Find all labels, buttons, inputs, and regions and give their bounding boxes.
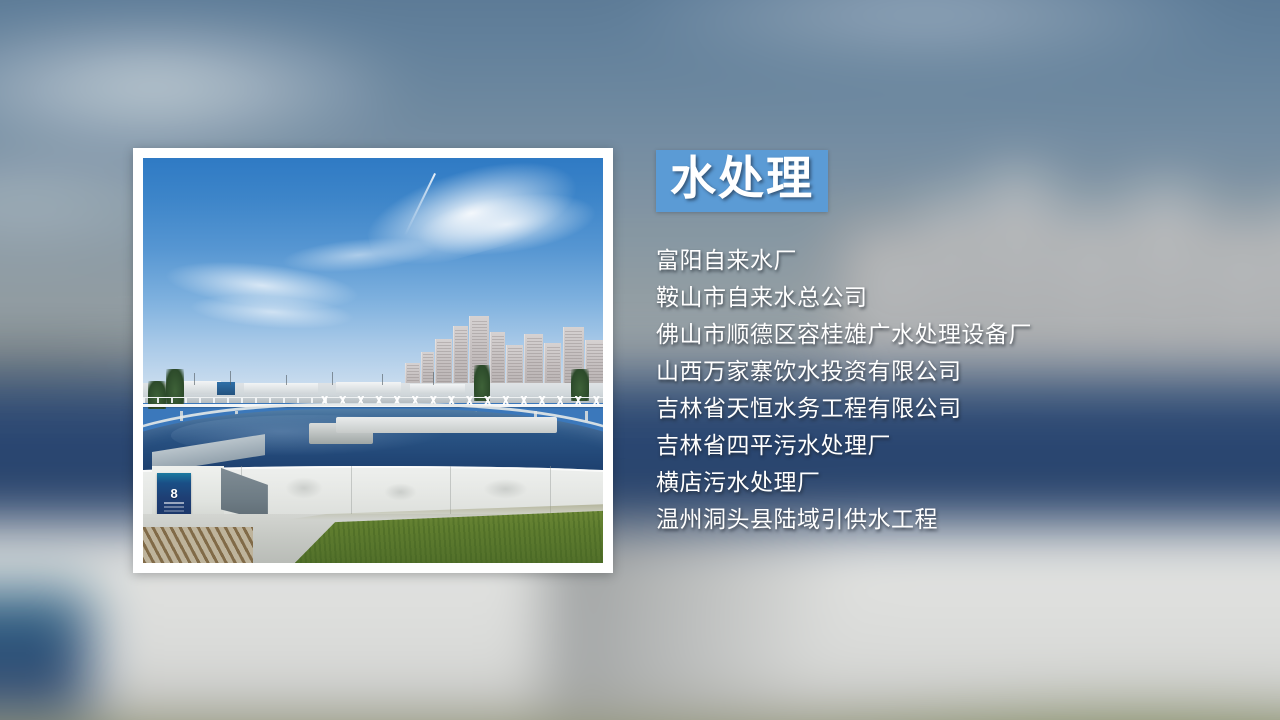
list-item: 温州洞头县陆域引供水工程 [656,501,1256,538]
list-item: 山西万家寨饮水投资有限公司 [656,353,1256,390]
list-item: 吉林省天恒水务工程有限公司 [656,390,1256,427]
slide-root: 8 水处理 富阳自来水厂 鞍山市自来水总公司 佛山市顺德区容桂雄广水处理设备厂 … [0,0,1280,720]
background-sign [0,590,89,720]
photo-sign-number: 8 [170,487,177,500]
background-cloud [0,15,420,157]
photo-sign-subtext [164,502,185,504]
photo-plant-building [410,384,465,394]
list-item: 鞍山市自来水总公司 [656,279,1256,316]
list-item: 横店污水处理厂 [656,464,1256,501]
photo-poles [143,369,603,385]
title-highlight-box: 水处理 [656,150,828,212]
list-item: 富阳自来水厂 [656,242,1256,279]
photo-frame[interactable]: 8 [133,148,613,573]
photo-tank-number-sign: 8 [157,473,191,518]
photo-drain-grating [143,527,253,563]
list-item: 吉林省四平污水处理厂 [656,427,1256,464]
background-cloud [609,0,1239,68]
list-item: 佛山市顺德区容桂雄广水处理设备厂 [656,316,1256,353]
client-list: 富阳自来水厂 鞍山市自来水总公司 佛山市顺德区容桂雄广水处理设备厂 山西万家寨饮… [656,242,1256,538]
background-grass-patch [719,688,1280,720]
content-column: 水处理 富阳自来水厂 鞍山市自来水总公司 佛山市顺德区容桂雄广水处理设备厂 山西… [656,150,1256,538]
photo-tank-walkway [336,417,557,433]
page-title: 水处理 [670,156,814,202]
photo-water-treatment-plant: 8 [143,158,603,563]
